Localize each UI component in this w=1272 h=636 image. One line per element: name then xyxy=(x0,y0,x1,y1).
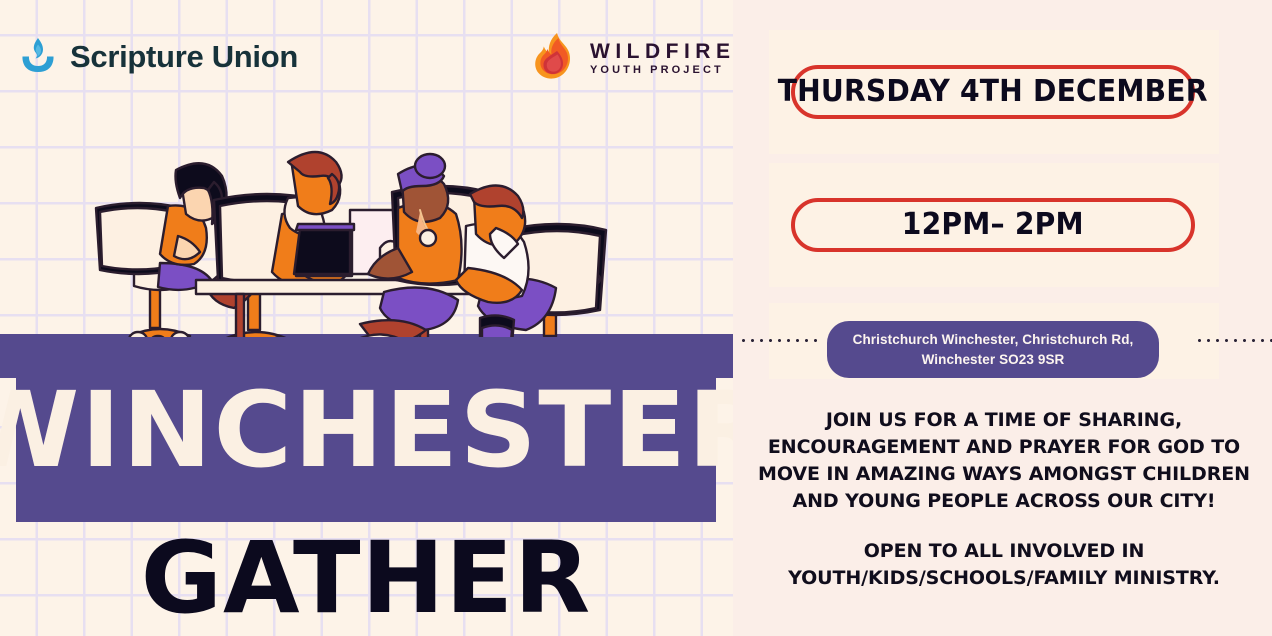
venue-badge: Christchurch Winchester, Christchurch Rd… xyxy=(827,321,1159,378)
dotted-divider-right xyxy=(1195,339,1272,342)
wildfire-subtitle: YOUTH PROJECT xyxy=(590,65,733,76)
venue-line-2: Winchester SO23 9SR xyxy=(843,350,1143,370)
flame-icon xyxy=(533,32,577,84)
poster-left-panel: Scripture Union WILDFIRE YOUTH PROJECT xyxy=(0,0,733,636)
dotted-divider-left xyxy=(739,339,823,342)
winchester-title-band: WINCHESTER xyxy=(16,337,716,522)
branding-row: Scripture Union WILDFIRE YOUTH PROJECT xyxy=(0,0,733,110)
venue-line-1: Christchurch Winchester, Christchurch Rd… xyxy=(843,330,1143,350)
time-text: 12PM– 2PM xyxy=(902,210,1084,240)
scripture-union-logo: Scripture Union xyxy=(18,36,298,78)
wildfire-wordmark: WILDFIRE YOUTH PROJECT xyxy=(590,41,733,76)
audience-line-1: OPEN TO ALL INVOLVED IN xyxy=(755,538,1253,565)
description-line-1: JOIN US FOR A TIME OF SHARING, xyxy=(755,407,1253,434)
flame-in-bowl-icon xyxy=(18,36,58,78)
page-title-line-2: GATHER xyxy=(141,529,591,628)
wildfire-logo: WILDFIRE YOUTH PROJECT xyxy=(533,32,733,84)
description-line-2: ENCOURAGEMENT AND PRAYER FOR GOD TO xyxy=(755,434,1253,461)
description-paragraph-1: JOIN US FOR A TIME OF SHARING, ENCOURAGE… xyxy=(755,407,1253,515)
time-card: 12PM– 2PM xyxy=(769,163,1219,287)
wildfire-title: WILDFIRE xyxy=(590,41,733,62)
description-line-4: AND YOUNG PEOPLE ACROSS OUR CITY! xyxy=(755,488,1253,515)
description-paragraph-2: OPEN TO ALL INVOLVED IN YOUTH/KIDS/SCHOO… xyxy=(755,538,1253,592)
gather-title-wrap: GATHER xyxy=(16,521,716,636)
poster-right-panel: THURSDAY 4TH DECEMBER 12PM– 2PM Christch… xyxy=(733,0,1272,636)
date-badge: THURSDAY 4TH DECEMBER xyxy=(791,65,1195,119)
time-badge: 12PM– 2PM xyxy=(791,198,1195,252)
scripture-union-wordmark: Scripture Union xyxy=(70,39,298,75)
date-card: THURSDAY 4TH DECEMBER xyxy=(769,30,1219,154)
event-poster: Scripture Union WILDFIRE YOUTH PROJECT xyxy=(0,0,1272,636)
audience-line-2: YOUTH/KIDS/SCHOOLS/FAMILY MINISTRY. xyxy=(755,565,1253,592)
venue-card: Christchurch Winchester, Christchurch Rd… xyxy=(769,303,1219,379)
description-line-3: MOVE IN AMAZING WAYS AMONGST CHILDREN xyxy=(755,461,1253,488)
people-meeting-around-table-illustration xyxy=(0,78,733,378)
date-text: THURSDAY 4TH DECEMBER xyxy=(778,77,1208,107)
page-title-line-1: WINCHESTER xyxy=(0,378,733,482)
